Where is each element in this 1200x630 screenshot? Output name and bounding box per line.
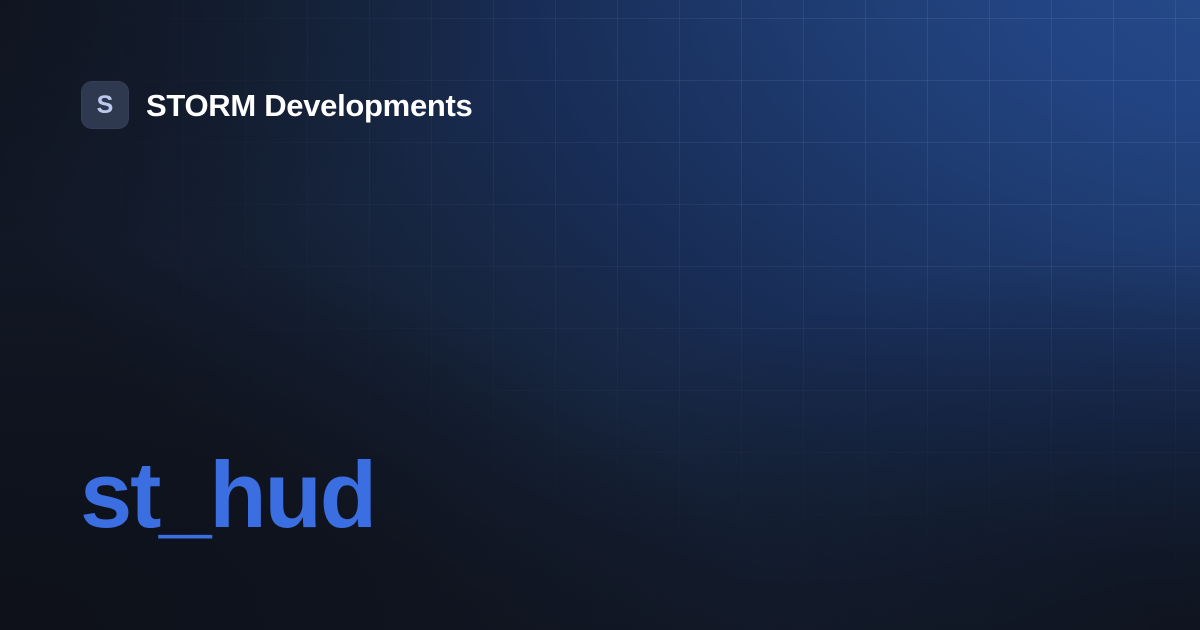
owner-row: S STORM Developments [81,81,473,129]
owner-name-label: STORM Developments [146,90,473,121]
og-preview-card: S STORM Developments st_hud [0,0,1200,630]
repository-name-title: st_hud [80,444,375,546]
owner-avatar: S [81,81,129,129]
